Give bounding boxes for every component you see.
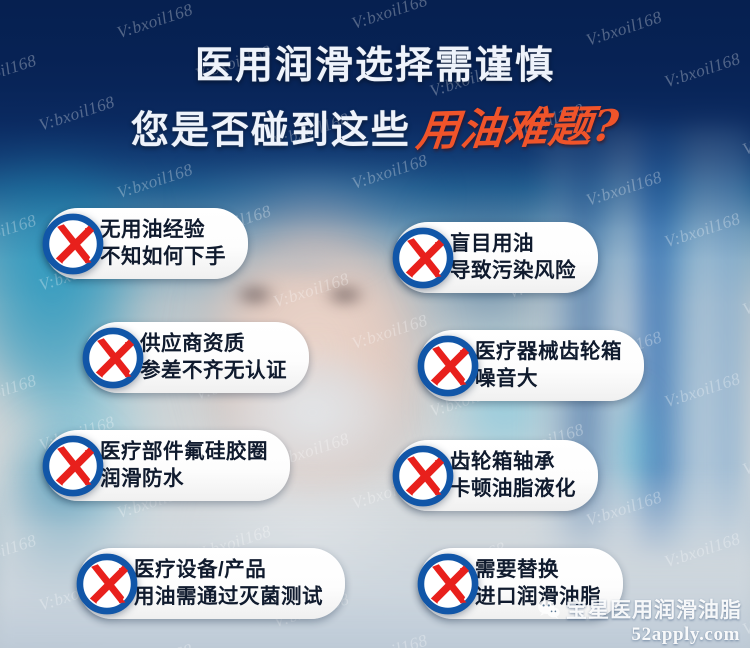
problem-items-list: 无用油经验不知如何下手 盲目用油导致污染风险 供应商资质参差不齐无认证: [0, 0, 750, 648]
red-cross-icon: [40, 211, 106, 277]
problem-item-line: 卡顿油脂液化: [450, 476, 576, 503]
problem-item[interactable]: 齿轮箱轴承卡顿油脂液化: [394, 440, 598, 511]
problem-item-line: 盲目用油: [450, 231, 576, 258]
problem-item[interactable]: 盲目用油导致污染风险: [394, 222, 598, 293]
problem-item-line: 需要替换: [475, 557, 601, 584]
problem-item-line: 噪音大: [475, 366, 622, 393]
problem-item-line: 医疗器械齿轮箱: [475, 339, 622, 366]
problem-item[interactable]: 供应商资质参差不齐无认证: [84, 322, 309, 393]
poster-root: V:bxoil168V:bxoil168V:bxoil168V:bxoil168…: [0, 0, 750, 648]
problem-item[interactable]: 医疗器械齿轮箱噪音大: [419, 330, 644, 401]
problem-item-line: 无用油经验: [100, 217, 226, 244]
problem-item-line: 不知如何下手: [100, 244, 226, 271]
red-cross-icon: [390, 225, 456, 291]
problem-item[interactable]: 无用油经验不知如何下手: [44, 208, 248, 279]
brand-badge: 宝星医用润滑油脂: [537, 594, 742, 624]
brand-name: 宝星医用润滑油脂: [566, 594, 742, 624]
red-cross-icon: [80, 325, 146, 391]
problem-item-line: 润滑防水: [100, 466, 268, 493]
red-cross-icon: [74, 551, 140, 617]
problem-item-line: 用油需通过灭菌测试: [134, 584, 323, 611]
red-cross-icon: [40, 433, 106, 499]
problem-item-line: 医疗设备/产品: [134, 557, 323, 584]
problem-item-line: 供应商资质: [140, 331, 287, 358]
red-cross-icon: [390, 443, 456, 509]
red-cross-icon: [415, 333, 481, 399]
brand-website: 52apply.com: [632, 624, 740, 646]
wechat-icon: [537, 598, 560, 621]
problem-item-line: 医疗部件氟硅胶圈: [100, 439, 268, 466]
problem-item-line: 导致污染风险: [450, 258, 576, 285]
problem-item[interactable]: 医疗部件氟硅胶圈润滑防水: [44, 430, 290, 501]
problem-item-line: 齿轮箱轴承: [450, 449, 576, 476]
red-cross-icon: [415, 551, 481, 617]
problem-item-line: 参差不齐无认证: [140, 358, 287, 385]
problem-item[interactable]: 医疗设备/产品用油需通过灭菌测试: [78, 548, 345, 619]
